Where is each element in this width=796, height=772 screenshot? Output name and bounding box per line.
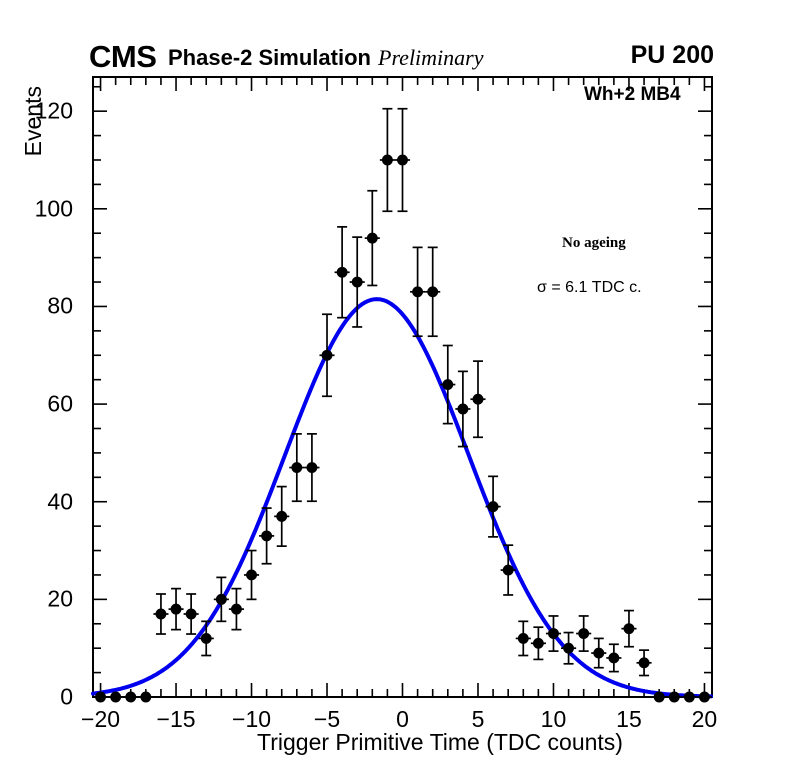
- x-tick-label: 15: [616, 708, 642, 731]
- data-point-marker: [670, 692, 679, 701]
- data-point-marker: [624, 624, 633, 633]
- data-point-marker: [111, 692, 120, 701]
- y-tick-label: 100: [0, 197, 73, 220]
- chart-plot-area: [0, 0, 796, 772]
- y-tick-label: 20: [0, 588, 73, 611]
- x-axis-title: Trigger Primitive Time (TDC counts): [0, 731, 796, 754]
- y-tick-label: 0: [0, 686, 73, 709]
- data-point-marker: [232, 605, 241, 614]
- data-point-marker: [368, 234, 377, 243]
- data-points: [93, 109, 712, 702]
- x-tick-label: 10: [541, 708, 567, 731]
- data-point-marker: [413, 287, 422, 296]
- data-point-marker: [609, 653, 618, 662]
- x-tick-label: −10: [232, 708, 271, 731]
- data-point-marker: [141, 692, 150, 701]
- data-point-marker: [564, 644, 573, 653]
- data-point-marker: [443, 380, 452, 389]
- x-tick-label: 5: [472, 708, 485, 731]
- data-point-marker: [187, 609, 196, 618]
- data-point-marker: [639, 658, 648, 667]
- data-point-marker: [353, 277, 362, 286]
- data-point-marker: [292, 463, 301, 472]
- data-point-marker: [685, 692, 694, 701]
- data-point-marker: [217, 595, 226, 604]
- resolution-label: σ = 6.1 TDC c.: [537, 280, 642, 296]
- ageing-label: No ageing: [562, 236, 626, 251]
- chamber-label: Wh+2 MB4: [584, 85, 681, 104]
- data-point-marker: [247, 570, 256, 579]
- data-point-marker: [534, 639, 543, 648]
- data-point-marker: [519, 634, 528, 643]
- cms-preliminary-text: Preliminary: [378, 47, 484, 69]
- data-point-marker: [428, 287, 437, 296]
- x-axis-title-text: Trigger Primitive Time (TDC counts): [173, 729, 623, 755]
- y-tick-label: 60: [0, 393, 73, 416]
- plot-canvas: CMS Phase-2 Simulation Preliminary PU 20…: [0, 0, 796, 772]
- data-point-marker: [171, 605, 180, 614]
- data-point-marker: [594, 648, 603, 657]
- data-point-marker: [202, 634, 211, 643]
- y-tick-label: 80: [0, 295, 73, 318]
- cms-subtitle: Phase-2 Simulation: [168, 47, 371, 69]
- x-tick-label: 20: [692, 708, 718, 731]
- data-point-marker: [488, 502, 497, 511]
- data-point-marker: [126, 692, 135, 701]
- data-point-marker: [700, 692, 709, 701]
- data-point-marker: [307, 463, 316, 472]
- plot-header: CMS Phase-2 Simulation Preliminary PU 20…: [0, 0, 796, 77]
- data-point-marker: [383, 155, 392, 164]
- data-point-marker: [322, 351, 331, 360]
- x-tick-label: −5: [314, 708, 340, 731]
- x-tick-label: 0: [396, 708, 409, 731]
- pileup-label: PU 200: [631, 43, 714, 68]
- data-point-marker: [262, 531, 271, 540]
- data-point-marker: [504, 565, 513, 574]
- data-point-marker: [579, 629, 588, 638]
- data-point-marker: [338, 268, 347, 277]
- x-tick-label: −15: [157, 708, 196, 731]
- data-point-marker: [398, 155, 407, 164]
- data-point-marker: [549, 629, 558, 638]
- gaussian-fit-curve: [93, 299, 711, 696]
- data-point-marker: [277, 512, 286, 521]
- data-point-marker: [473, 395, 482, 404]
- data-point-marker: [96, 692, 105, 701]
- y-tick-label: 40: [0, 490, 73, 513]
- cms-logo-text: CMS: [89, 41, 156, 72]
- y-tick-label: 120: [0, 100, 73, 123]
- data-point-marker: [156, 609, 165, 618]
- x-tick-label: −20: [81, 708, 120, 731]
- data-point-marker: [458, 404, 467, 413]
- data-point-marker: [655, 692, 664, 701]
